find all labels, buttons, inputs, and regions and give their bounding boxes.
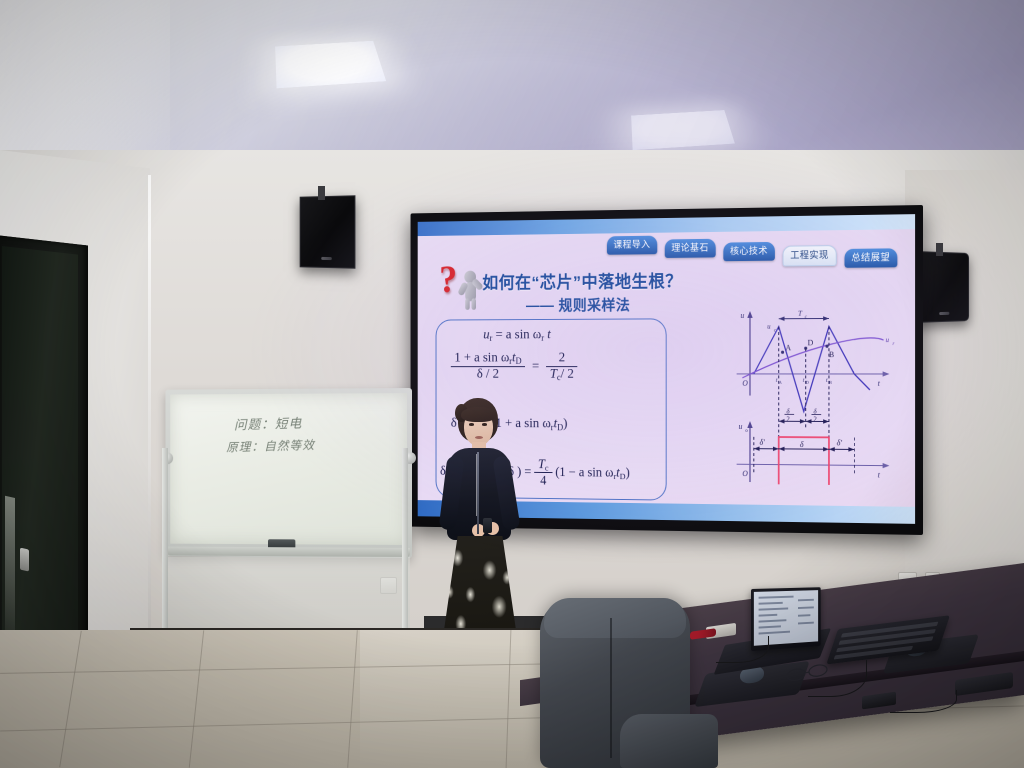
svg-text:O: O [742,469,748,478]
door-upper-latch [20,548,29,572]
svg-text:u: u [767,324,771,331]
formula-line-2: 1 + a sin ωrtD δ / 2 = 2 Tc/ 2 [451,351,578,383]
svg-text:t: t [776,378,778,384]
svg-text:T: T [798,310,803,318]
whiteboard-pen-tray [167,547,410,557]
chair-seam [610,618,612,758]
svg-text:o: o [745,428,748,434]
tab-course-intro[interactable]: 课程导入 [607,236,657,255]
svg-text:δ: δ [800,440,804,449]
slide-subtitle: —— 规则采样法 [526,294,630,315]
slide-nav-tabs: 课程导入 理论基石 核心技术 工程实现 总结展望 [607,232,915,271]
svg-text:A: A [779,380,783,385]
hair-fringe [461,407,496,422]
whiteboard-frame: 问题：短电 原理：自然等效 [165,388,412,558]
svg-text:c: c [805,315,808,320]
question-mark-thinking-figure-icon: ? [437,261,487,311]
eye [469,423,474,426]
svg-text:t: t [826,378,828,384]
presentation-clicker[interactable] [483,518,492,533]
whiteboard-leg [402,448,408,646]
mouth [475,436,483,439]
svg-text:B: B [829,350,834,359]
whiteboard-line-1: 问题：短电 [234,413,303,434]
tab-core-tech[interactable]: 核心技术 [723,242,774,261]
svg-text:u: u [886,337,890,344]
whiteboard-surface[interactable]: 问题：短电 原理：自然等效 [170,393,407,545]
svg-text:B: B [829,380,832,385]
whiteboard-lower-panel [164,557,410,635]
slide-title: 如何在“芯片”中落地生根？ [482,268,682,294]
svg-text:δ': δ' [760,438,766,447]
svg-text:r: r [892,342,894,347]
svg-text:u: u [739,422,743,431]
svg-text:2: 2 [786,416,790,423]
whiteboard-line-2: 原理：自然等效 [226,436,315,455]
svg-text:A: A [785,343,791,352]
svg-text:O: O [742,379,748,388]
chair-headrest [544,598,686,638]
svg-text:2: 2 [813,416,817,423]
svg-text:D: D [808,338,814,347]
jacket-zipper [477,452,479,534]
pwm-timing-diagram: u t O u r u c T c [723,304,907,504]
svg-text:t: t [878,470,881,479]
svg-text:u: u [740,311,744,320]
eye [482,423,487,426]
speaker-bracket [936,243,943,256]
wall-corner-seam [148,175,151,695]
svg-text:t: t [878,379,881,388]
svg-text:t: t [803,378,805,384]
chair-armrest[interactable] [620,714,718,768]
wall-speaker [300,195,356,268]
speaker-bracket [318,186,325,200]
formula-line-1: ur = a sin ωr t [483,328,550,344]
svg-text:δ': δ' [837,438,843,447]
tab-engineering[interactable]: 工程实现 [783,245,837,266]
tab-summary[interactable]: 总结展望 [844,248,896,267]
classroom-scene: 课程导入 理论基石 核心技术 工程实现 总结展望 ? 如何在“芯片”中落地生根？… [0,0,1024,768]
svg-text:D: D [806,380,809,385]
whiteboard-leg [162,448,168,646]
tab-theory[interactable]: 理论基石 [665,239,716,258]
